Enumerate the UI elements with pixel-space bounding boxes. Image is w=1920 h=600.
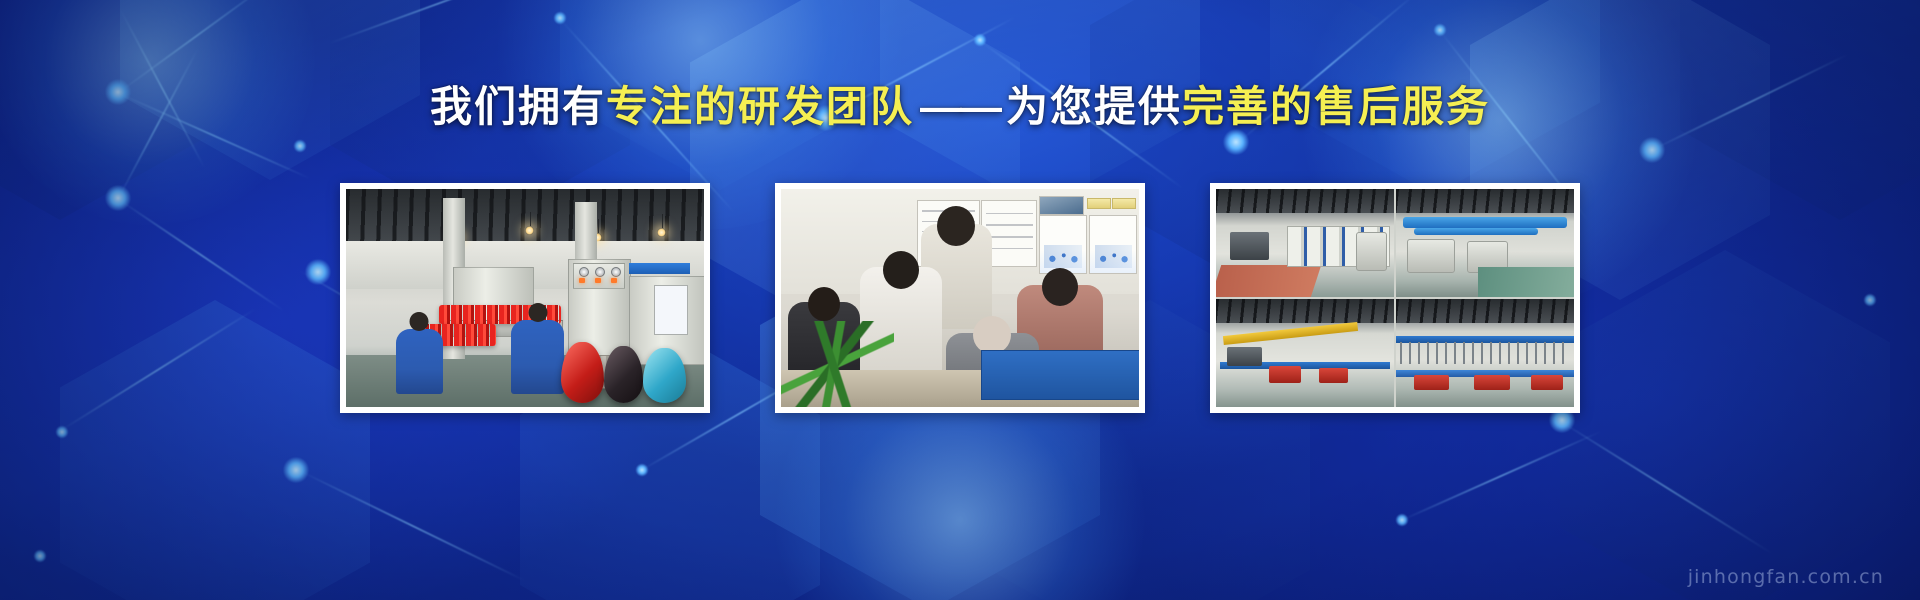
headline-highlight-2: 完善的售后服务	[1182, 83, 1490, 130]
site-watermark: jinhongfan.com.cn	[1688, 566, 1884, 588]
collage-quadrant-3	[1216, 299, 1394, 407]
photo-card-factory-production-line[interactable]	[340, 183, 710, 413]
collage-quadrant-2	[1396, 189, 1574, 297]
headline-part-2: 为您提供	[1006, 83, 1182, 130]
headline-highlight-1: 专注的研发团队	[606, 83, 914, 130]
photo-card-workshop-collage[interactable]	[1210, 183, 1580, 413]
collage-quadrant-1	[1216, 189, 1394, 297]
photo-gallery	[0, 183, 1920, 413]
headline-separator: ——	[914, 83, 1006, 130]
promo-banner: 我们拥有专注的研发团队——为您提供完善的售后服务	[0, 0, 1920, 600]
photo-card-technical-meeting[interactable]	[775, 183, 1145, 413]
technical-meeting-image	[781, 189, 1139, 407]
workshop-collage-image	[1216, 189, 1574, 407]
headline-part-1: 我们拥有	[430, 83, 606, 130]
page-title: 我们拥有专注的研发团队——为您提供完善的售后服务	[0, 84, 1920, 130]
factory-production-line-image	[346, 189, 704, 407]
collage-quadrant-4	[1396, 299, 1574, 407]
